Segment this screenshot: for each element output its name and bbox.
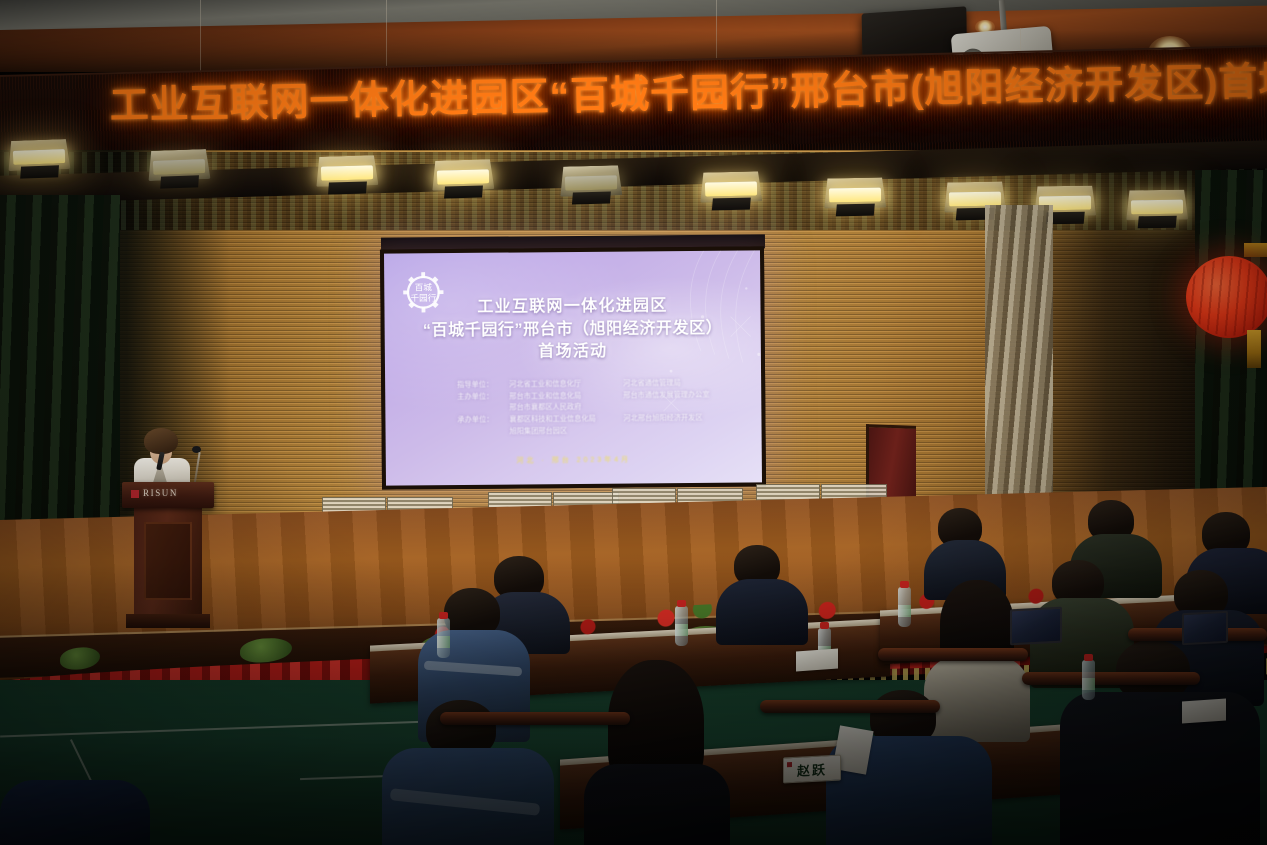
laptop[interactable]	[1010, 607, 1062, 646]
chair-back[interactable]	[1022, 672, 1200, 685]
placard-name-text: 赵跃	[797, 759, 827, 780]
led-banner-text: 工业互联网一体化进园区“百城千园行”邢台市(旭阳经济开发区)首场活动	[109, 63, 1230, 127]
conference-hall-photo: 工业互联网一体化进园区“百城千园行”邢台市(旭阳经济开发区)首场活动	[0, 0, 1267, 845]
slide-title-line-1: 工业互联网一体化进园区	[384, 294, 760, 320]
organizer-primary: 旭阳集团邢台园区	[509, 424, 617, 437]
stage-light-icon	[700, 171, 763, 202]
foliage	[240, 638, 292, 663]
speaker-person	[128, 428, 198, 488]
court-line	[0, 720, 430, 737]
organizer-secondary: 河北邢台旭阳经济开发区	[623, 412, 735, 425]
water-bottle[interactable]	[675, 606, 688, 646]
organizer-label: 承办单位：	[457, 414, 503, 426]
foliage	[60, 647, 100, 670]
red-lantern-icon	[1186, 256, 1267, 338]
projection-screen: 百城 千园行 工业互联网一体化进园区 “百城千园行”邢台市（旭阳经济开发区） 首…	[380, 246, 766, 489]
lantern-tassel	[1247, 330, 1261, 368]
slide-title-line-3: 首场活动	[385, 340, 761, 366]
organizer-primary: 邢台市工业和信息化局	[509, 389, 617, 402]
bottle-label	[675, 624, 688, 636]
laptop-screen	[1010, 607, 1062, 646]
organizer-label: 主办单位：	[457, 390, 503, 402]
slide-footer: 河北 · 邢台 2023年4月	[386, 453, 762, 466]
person-torso	[716, 579, 808, 645]
stage-light-icon	[7, 139, 70, 171]
stage-light-icon	[316, 155, 379, 187]
ceiling-band	[0, 0, 1267, 30]
speaker-hair	[144, 428, 178, 454]
organizer-secondary: 邢台市通信发展管理办公室	[623, 388, 735, 401]
lantern-cap	[1244, 243, 1267, 257]
organizer-primary: 襄都区科技和工业信息化局	[509, 413, 617, 426]
person-torso	[924, 656, 1030, 742]
stage-light-icon	[824, 177, 887, 208]
person-torso	[0, 780, 150, 845]
name-placard: 赵跃	[783, 754, 841, 783]
organizer-secondary: 河北省通信管理局	[623, 377, 735, 390]
organizer-secondary	[623, 423, 735, 436]
podium-front-panel	[144, 522, 192, 600]
chair-back[interactable]	[440, 712, 630, 725]
logo-line-1: 百城	[415, 282, 433, 293]
water-bottle[interactable]	[437, 618, 450, 658]
presentation-slide: 百城 千园行 工业互联网一体化进园区 “百城千园行”邢台市（旭阳经济开发区） 首…	[384, 250, 762, 485]
stage-light-icon	[1126, 190, 1188, 221]
bottle-label	[1082, 678, 1095, 690]
podium-base	[126, 614, 210, 628]
organizer-primary: 河北省工业和信息化厅	[509, 378, 617, 391]
organizer-row: 旭阳集团邢台园区	[457, 423, 735, 437]
slide-title: 工业互联网一体化进园区 “百城千园行”邢台市（旭阳经济开发区） 首场活动	[384, 294, 761, 365]
bottle-label	[437, 636, 450, 648]
podium-body	[134, 508, 202, 616]
chair-back[interactable]	[878, 648, 1028, 661]
laptop[interactable]	[1182, 611, 1228, 645]
person-torso	[584, 764, 730, 845]
document-paper[interactable]	[796, 649, 838, 672]
chair-back[interactable]	[760, 700, 940, 713]
placard-logo-mark-icon	[787, 762, 792, 767]
slide-organizer-list: 指导单位： 河北省工业和信息化厅 河北省通信管理局 主办单位： 邢台市工业和信息…	[457, 377, 735, 438]
organizer-primary: 邢台市襄都区人民政府	[509, 401, 617, 414]
document-paper[interactable]	[1182, 698, 1226, 723]
podium-top: RISUN	[122, 482, 214, 508]
slide-title-line-2: “百城千园行”邢台市（旭阳经济开发区）	[385, 317, 761, 343]
risun-logo-text: RISUN	[143, 488, 178, 498]
bottle-label	[898, 605, 911, 617]
podium: RISUN	[122, 482, 214, 628]
organizer-secondary	[623, 400, 735, 413]
water-bottle[interactable]	[898, 587, 911, 627]
person-torso	[1060, 692, 1260, 845]
stage-light-icon	[147, 149, 210, 181]
stage-light-icon	[432, 159, 495, 191]
organizer-label	[457, 425, 503, 437]
organizer-label: 指导单位：	[457, 379, 503, 391]
risun-logo-mark-icon	[131, 490, 139, 498]
stage-light-icon	[560, 165, 623, 197]
water-bottle[interactable]	[1082, 660, 1095, 700]
organizer-label	[457, 402, 503, 414]
laptop-screen	[1182, 611, 1228, 645]
